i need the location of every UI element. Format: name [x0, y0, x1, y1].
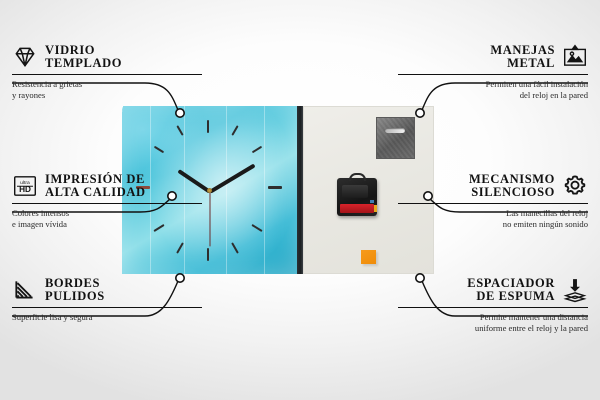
- callout-vidrio-templado[interactable]: VIDRIO TEMPLADO Resistencia a grietas y …: [12, 44, 202, 100]
- gear-icon: [562, 173, 588, 199]
- callout-rule: [12, 307, 202, 308]
- callout-subtitle: Resistencia a grietas y rayones: [12, 79, 202, 100]
- callout-subtitle: Colores intensos e imagen vívida: [12, 208, 202, 229]
- battery: [340, 204, 374, 213]
- callout-rule: [12, 74, 202, 75]
- callout-title: MECANISMO SILENCIOSO: [469, 173, 555, 199]
- callout-espaciador-de-espuma[interactable]: ESPACIADOR DE ESPUMA Permite mantener un…: [398, 277, 588, 333]
- callout-title: ESPACIADOR DE ESPUMA: [467, 277, 555, 303]
- callout-impresion-alta-calidad[interactable]: ultra HD IMPRESIÓN DE ALTA CALIDAD Color…: [12, 173, 202, 229]
- ultra-hd-icon: ultra HD: [12, 173, 38, 199]
- callout-subtitle: Permiten una fácil instalación del reloj…: [398, 79, 588, 100]
- callout-bordes-pulidos[interactable]: BORDES PULIDOS Superficie lisa y segura: [12, 277, 202, 323]
- foam-spacer: [361, 250, 376, 264]
- callout-title: BORDES PULIDOS: [45, 277, 105, 303]
- diamond-icon: [12, 44, 38, 70]
- callout-subtitle: Las manecillas del reloj no emiten ningú…: [398, 208, 588, 229]
- callout-rule: [398, 74, 588, 75]
- callout-title: MANEJAS METAL: [490, 44, 555, 70]
- callout-rule: [12, 203, 202, 204]
- callout-rule: [398, 203, 588, 204]
- foam-spacer-icon: [562, 277, 588, 303]
- metal-hanger-icon: [376, 117, 415, 159]
- callout-manejas-metal[interactable]: MANEJAS METAL Permiten una fácil instala…: [398, 44, 588, 100]
- callout-title: VIDRIO TEMPLADO: [45, 44, 122, 70]
- picture-hanger-icon: [562, 44, 588, 70]
- infographic-stage: VIDRIO TEMPLADO Resistencia a grietas y …: [0, 0, 600, 400]
- polished-edges-icon: [12, 277, 38, 303]
- callout-mecanismo-silencioso[interactable]: MECANISMO SILENCIOSO Las manecillas del …: [398, 173, 588, 229]
- callout-subtitle: Permite mantener una distancia uniforme …: [398, 312, 588, 333]
- callout-rule: [398, 307, 588, 308]
- clock-center-pin: [207, 188, 212, 193]
- callout-subtitle: Superficie lisa y segura: [12, 312, 202, 323]
- callout-title: IMPRESIÓN DE ALTA CALIDAD: [45, 173, 146, 199]
- clock-second-hand: [209, 191, 210, 247]
- clock-mechanism: [337, 178, 377, 216]
